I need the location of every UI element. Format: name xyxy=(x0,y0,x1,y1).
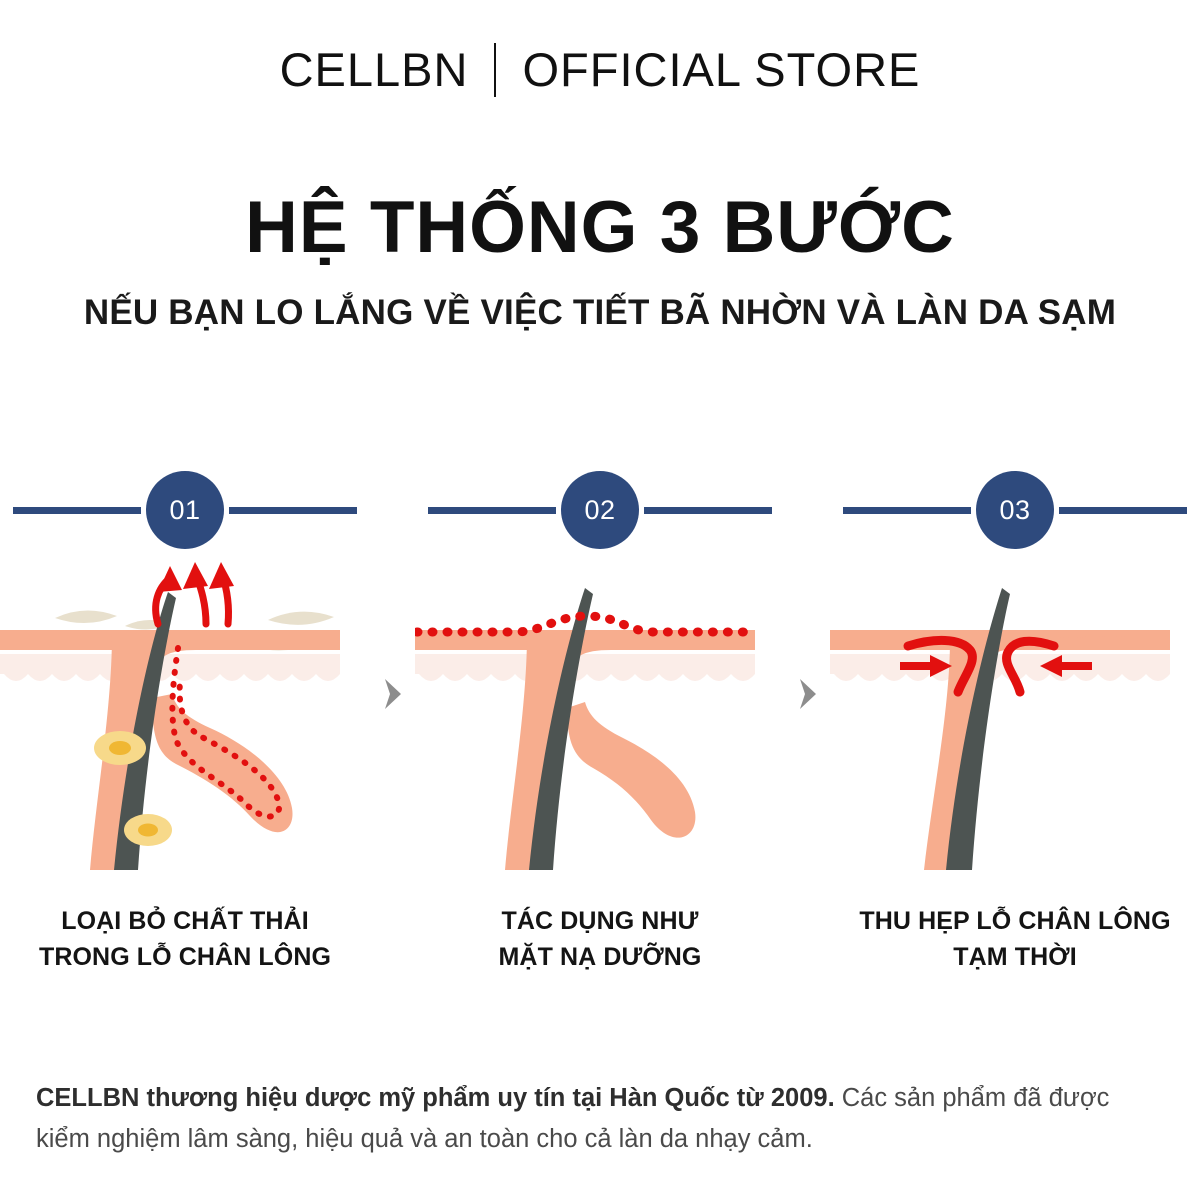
step-rule-right xyxy=(229,507,357,514)
step-card-01: 01 xyxy=(0,462,370,975)
step-header-01: 01 xyxy=(0,462,370,558)
steps-row: 01 xyxy=(0,462,1200,975)
step-number-badge-02: 02 xyxy=(561,471,639,549)
step-figure-03 xyxy=(830,558,1200,888)
dermis-layer xyxy=(415,654,755,681)
chevron-right-icon xyxy=(381,677,405,711)
step-number-badge-01: 01 xyxy=(146,471,224,549)
step-caption-02-line1: TÁC DỤNG NHƯ xyxy=(415,904,785,940)
step-caption-03-line2: TẠM THỜI xyxy=(830,940,1200,976)
step-caption-02: TÁC DỤNG NHƯ MẶT NẠ DƯỠNG xyxy=(415,904,785,975)
step-caption-03: THU HẸP LỖ CHÂN LÔNG TẠM THỜI xyxy=(830,904,1200,975)
step-number-badge-03: 03 xyxy=(976,471,1054,549)
step-rule-left xyxy=(843,507,971,514)
hero-section: HỆ THỐNG 3 BƯỚC NẾU BẠN LO LẮNG VỀ VIỆC … xyxy=(0,190,1200,333)
step-rule-right xyxy=(644,507,772,514)
chevron-right-icon xyxy=(796,677,820,711)
dermis-layer xyxy=(830,654,1170,681)
infographic-page: CELLBN OFFICIAL STORE HỆ THỐNG 3 BƯỚC NẾ… xyxy=(0,0,1200,1200)
step-caption-01-line2: TRONG LỖ CHÂN LÔNG xyxy=(0,940,370,976)
step-separator-1 xyxy=(370,462,415,962)
step-caption-01-line1: LOẠI BỎ CHẤT THẢI xyxy=(0,904,370,940)
step-separator-2 xyxy=(785,462,830,962)
step-rule-left xyxy=(428,507,556,514)
sebaceous-gland xyxy=(152,694,293,832)
dermis-layer xyxy=(0,654,340,681)
official-store-label: OFFICIAL STORE xyxy=(522,42,920,97)
sebaceous-gland xyxy=(567,702,695,838)
page-title: HỆ THỐNG 3 BƯỚC xyxy=(0,190,1200,267)
footer-bold-text: CELLBN thương hiệu dược mỹ phẩm uy tín t… xyxy=(36,1084,835,1112)
page-subtitle: NẾU BẠN LO LẮNG VỀ VIỆC TIẾT BÃ NHỜN VÀ … xyxy=(0,293,1200,333)
step-caption-03-line1: THU HẸP LỖ CHÂN LÔNG xyxy=(830,904,1200,940)
brand-name: CELLBN xyxy=(280,42,469,97)
step-card-03: 03 xyxy=(830,462,1200,975)
brand-divider xyxy=(494,43,496,97)
step-caption-02-line2: MẶT NẠ DƯỠNG xyxy=(415,940,785,976)
footer-text: CELLBN thương hiệu dược mỹ phẩm uy tín t… xyxy=(36,1078,1164,1161)
step-rule-left xyxy=(13,507,141,514)
brand-header: CELLBN OFFICIAL STORE xyxy=(0,42,1200,97)
step-card-02: 02 TÁC DỤNG NHƯ MẶT NẠ DƯỠNG xyxy=(415,462,785,975)
step-header-03: 03 xyxy=(830,462,1200,558)
step-header-02: 02 xyxy=(415,462,785,558)
step-rule-right xyxy=(1059,507,1187,514)
step-figure-01 xyxy=(0,558,370,888)
step-figure-02 xyxy=(415,558,785,888)
step-caption-01: LOẠI BỎ CHẤT THẢI TRONG LỖ CHÂN LÔNG xyxy=(0,904,370,975)
